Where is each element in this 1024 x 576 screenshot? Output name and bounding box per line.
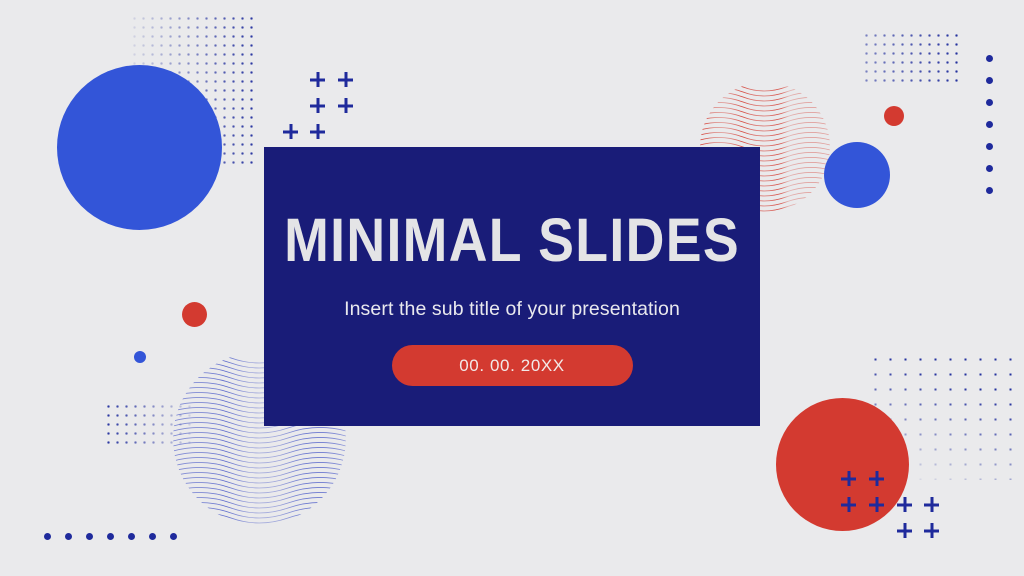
dot	[86, 533, 93, 540]
dot	[65, 533, 72, 540]
plus-icon	[338, 72, 353, 87]
plus-icon	[869, 497, 884, 512]
dot	[986, 143, 993, 150]
date-badge[interactable]: 00. 00. 20XX	[392, 345, 633, 386]
presentation-slide: MINIMAL SLIDES Insert the sub title of y…	[0, 0, 1024, 576]
dot	[128, 533, 135, 540]
plus-icon	[924, 497, 939, 512]
plus-icon	[310, 124, 325, 139]
dot-grid-left	[104, 402, 192, 450]
plus-icon	[310, 98, 325, 113]
plus-icon	[924, 523, 939, 538]
blue-dot-left	[134, 351, 146, 363]
dot	[986, 55, 993, 62]
page-title: MINIMAL SLIDES	[284, 210, 740, 271]
subtitle: Insert the sub title of your presentatio…	[344, 298, 680, 321]
plus-icon	[897, 497, 912, 512]
blue-circle-top-right	[824, 142, 890, 208]
dot	[149, 533, 156, 540]
red-dot-left	[182, 302, 207, 327]
dot-grid-bottom-right	[868, 352, 1018, 480]
red-dot-top-right	[884, 106, 904, 126]
dot	[986, 121, 993, 128]
plus-icon	[841, 471, 856, 486]
red-circle-bottom-right	[776, 398, 909, 531]
dot	[986, 77, 993, 84]
dot	[986, 187, 993, 194]
dot	[44, 533, 51, 540]
plus-icon	[310, 72, 325, 87]
plus-icon	[338, 98, 353, 113]
title-panel: MINIMAL SLIDES Insert the sub title of y…	[264, 147, 760, 426]
plus-icon	[841, 497, 856, 512]
dot	[986, 165, 993, 172]
dot-grid-top-left	[130, 14, 258, 166]
dot	[170, 533, 177, 540]
dot	[986, 99, 993, 106]
dot	[107, 533, 114, 540]
plus-icon	[897, 523, 912, 538]
plus-icon	[869, 471, 884, 486]
plus-icon	[283, 124, 298, 139]
dot-grid-top-right	[862, 31, 958, 87]
blue-circle-top-left	[57, 65, 222, 230]
